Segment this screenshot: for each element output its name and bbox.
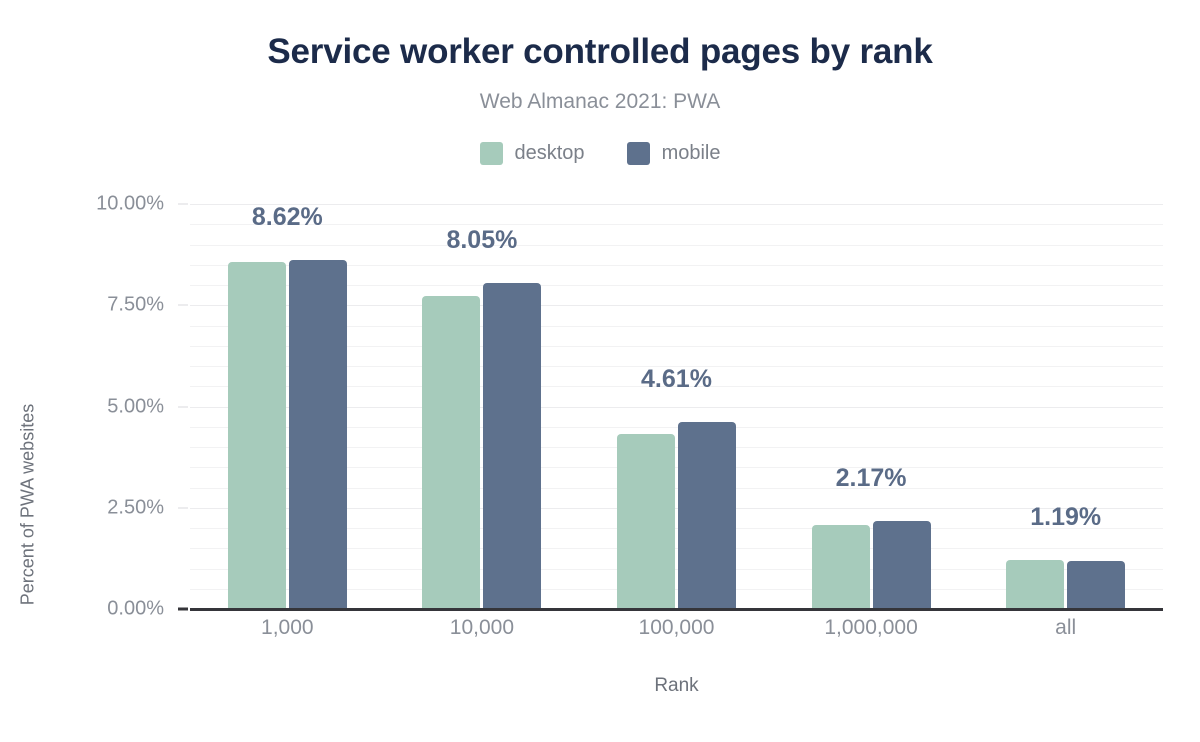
y-axis-tick-label: 0.00% [107,598,164,621]
bar-value-label: 2.17% [771,464,971,493]
chart-figure: Service worker controlled pages by rank … [0,0,1200,742]
x-axis-title: Rank [190,675,1163,697]
legend-label-mobile: mobile [662,142,721,165]
x-axis-tick-label: 1,000,000 [774,616,969,640]
legend-item-mobile[interactable]: mobile [627,142,721,165]
bar-value-label: 8.62% [187,203,387,232]
chart-subtitle: Web Almanac 2021: PWA [0,90,1200,114]
bar-group: 4.61% [579,204,774,609]
y-axis-tick-mark [178,406,188,407]
x-axis-tick-label: 1,000 [190,616,385,640]
bar-desktop[interactable] [422,296,480,609]
x-axis-tick-label: 10,000 [385,616,580,640]
y-axis-tick-label: 7.50% [107,294,164,317]
y-axis-tick-label: 2.50% [107,496,164,519]
chart-legend: desktop mobile [0,142,1200,165]
x-axis-line [190,608,1163,611]
y-axis-tick-mark [178,305,188,306]
plot-area: 8.62%8.05%4.61%2.17%1.19% [190,204,1163,609]
y-axis-title: Percent of PWA websites [18,335,39,675]
bar-group: 1.19% [968,204,1163,609]
bar-mobile[interactable] [483,283,541,609]
x-axis-tick-label: 100,000 [579,616,774,640]
bar-desktop[interactable] [1006,560,1064,609]
bar-value-label: 8.05% [382,226,582,255]
y-axis-tick-label: 10.00% [96,193,164,216]
x-axis-tick-label: all [968,616,1163,640]
legend-label-desktop: desktop [515,142,585,165]
y-axis: Percent of PWA websites 0.00%2.50%5.00%7… [0,204,178,609]
legend-item-desktop[interactable]: desktop [480,142,585,165]
bar-mobile[interactable] [289,260,347,609]
bar-mobile[interactable] [873,521,931,609]
bar-mobile[interactable] [678,422,736,609]
legend-swatch-desktop-icon [480,142,503,165]
y-axis-tick-mark [178,507,188,508]
y-axis-tick-mark [178,608,188,611]
bar-groups: 8.62%8.05%4.61%2.17%1.19% [190,204,1163,609]
bar-value-label: 1.19% [966,503,1166,532]
bar-mobile[interactable] [1067,561,1125,609]
bar-group: 8.62% [190,204,385,609]
x-axis-tick-labels: 1,00010,000100,0001,000,000all [190,616,1163,640]
y-axis-tick-label: 5.00% [107,395,164,418]
bar-group: 8.05% [385,204,580,609]
bar-desktop[interactable] [617,434,675,609]
bar-desktop[interactable] [228,262,286,609]
legend-swatch-mobile-icon [627,142,650,165]
bar-value-label: 4.61% [576,365,776,394]
bar-desktop[interactable] [812,525,870,609]
chart-title: Service worker controlled pages by rank [0,32,1200,72]
bar-group: 2.17% [774,204,969,609]
